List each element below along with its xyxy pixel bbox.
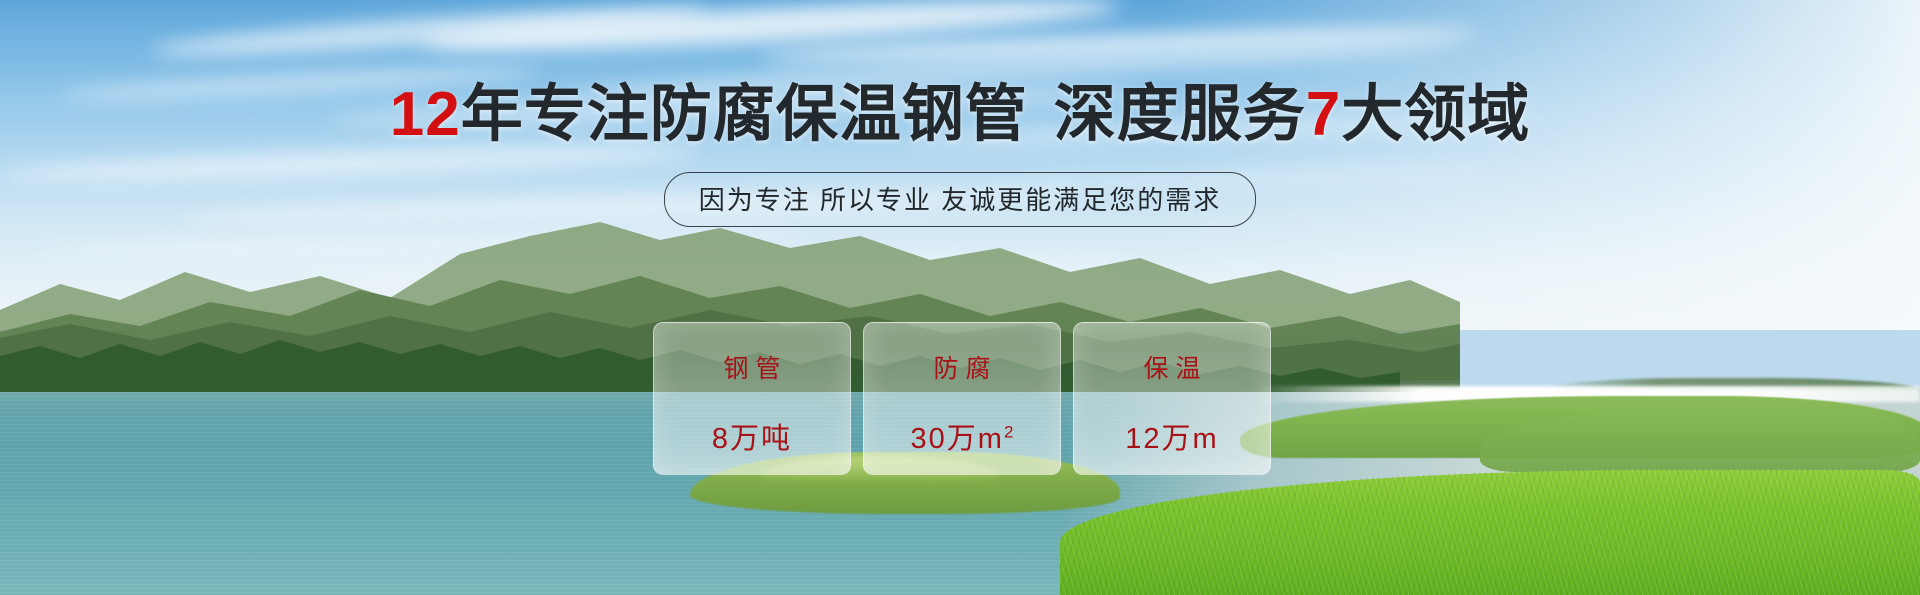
stat-value-text: 8万吨 [712, 423, 792, 455]
headline-part-a: 年专注防腐保温钢管 [461, 80, 1028, 149]
stat-label: 防腐 [926, 349, 997, 385]
stat-label: 钢管 [716, 349, 787, 385]
stat-value-text: 12万m [1125, 423, 1218, 455]
headline-fields-number: 7 [1306, 80, 1341, 149]
headline-years-number: 12 [390, 80, 461, 149]
stat-value: 8万吨 [712, 415, 792, 457]
stat-value-superscript: 2 [1004, 422, 1013, 441]
stat-value: 30万m2 [911, 415, 1014, 457]
headline-part-b: 深度服务 [1054, 80, 1306, 149]
stat-value-text: 30万m [911, 423, 1004, 455]
stat-card: 保温 12万m [1073, 322, 1271, 475]
stat-value: 12万m [1125, 415, 1218, 457]
stats-row: 钢管 8万吨 防腐 30万m2 保温 12万m [653, 322, 1273, 474]
subtitle-container: 因为专注 所以专业 友诚更能满足您的需求 [0, 172, 1920, 227]
subtitle-pill: 因为专注 所以专业 友诚更能满足您的需求 [664, 172, 1256, 227]
stat-label: 保温 [1136, 349, 1207, 385]
stat-card: 钢管 8万吨 [653, 322, 851, 475]
headline-part-c: 大领域 [1341, 80, 1530, 149]
page-title: 12年专注防腐保温钢管深度服务7大领域 [0, 84, 1920, 146]
stat-card: 防腐 30万m2 [863, 322, 1061, 475]
hero-banner: 12年专注防腐保温钢管深度服务7大领域 因为专注 所以专业 友诚更能满足您的需求… [0, 0, 1920, 595]
